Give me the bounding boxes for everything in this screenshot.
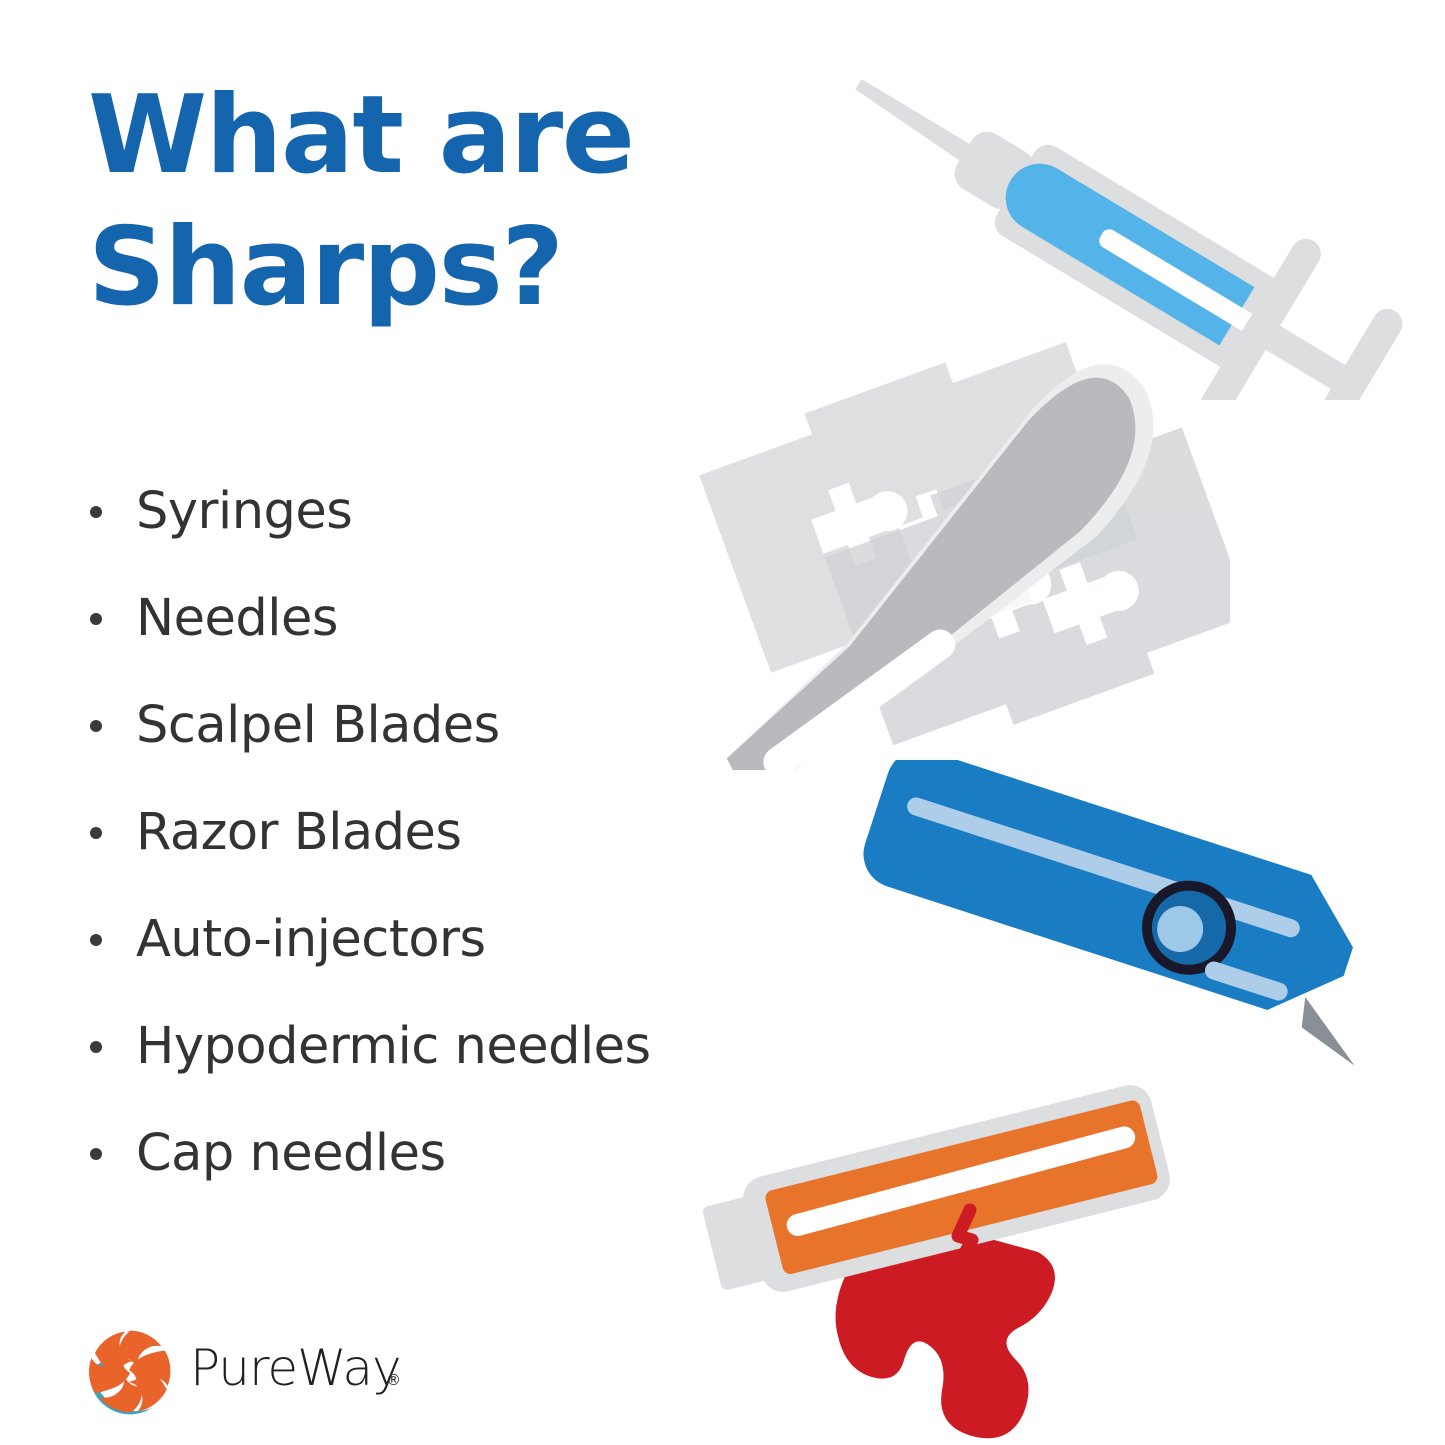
list-item-label: Cap needles xyxy=(136,1124,446,1183)
pureway-wordmark: PureWay ® xyxy=(190,1335,430,1407)
pureway-logo[interactable]: PureWay ® xyxy=(84,1325,430,1417)
list-item-label: Needles xyxy=(136,589,338,648)
list-item-label: Hypodermic needles xyxy=(136,1017,651,1076)
bullet-icon xyxy=(90,506,102,518)
bullet-icon xyxy=(90,1148,102,1160)
auto-injector-icon xyxy=(680,1060,1220,1445)
blades-icon xyxy=(670,340,1230,770)
list-item-label: Scalpel Blades xyxy=(136,696,500,755)
bullet-icon xyxy=(90,934,102,946)
bullet-icon xyxy=(90,720,102,732)
pureway-wordmark-text: PureWay xyxy=(190,1339,401,1397)
bullet-icon xyxy=(90,827,102,839)
page-title: What are Sharps? xyxy=(88,70,708,334)
pureway-swirl-logo-icon xyxy=(84,1325,176,1417)
list-item: Auto-injectors xyxy=(88,886,788,993)
infographic-canvas: What are Sharps? Syringes Needles Scalpe… xyxy=(0,0,1445,1445)
list-item-label: Auto-injectors xyxy=(136,910,486,969)
box-cutter-icon xyxy=(820,760,1420,1080)
list-item-label: Razor Blades xyxy=(136,803,461,862)
registered-mark: ® xyxy=(386,1371,401,1389)
bullet-icon xyxy=(90,613,102,625)
list-item: Razor Blades xyxy=(88,779,788,886)
bullet-icon xyxy=(90,1041,102,1053)
list-item-label: Syringes xyxy=(136,482,352,541)
